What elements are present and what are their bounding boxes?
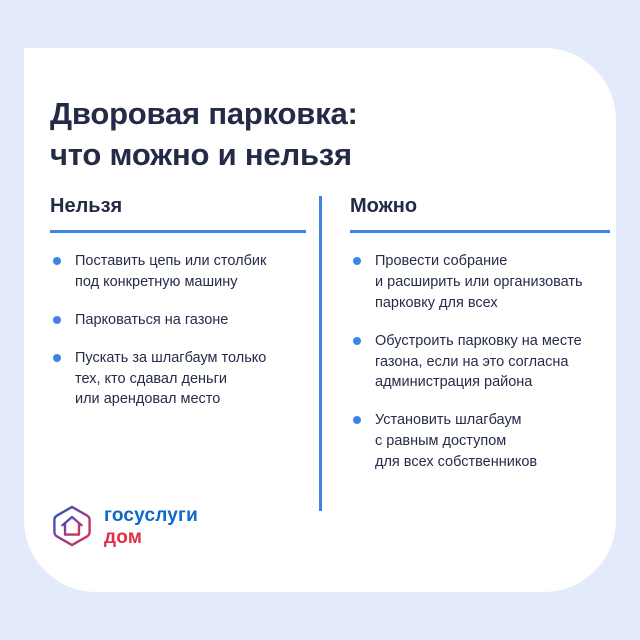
list-item: Поставить цепь или столбик под конкретну…: [50, 251, 306, 293]
list-item-line: парковку для всех: [375, 293, 610, 314]
bullet-dot-icon: [53, 354, 61, 362]
list-item-line: Обустроить парковку на месте: [375, 331, 610, 352]
content-card: Дворовая парковка: что можно и нельзя Не…: [24, 48, 616, 592]
list-item: Парковаться на газоне: [50, 310, 306, 331]
list-item-line: для всех собственников: [375, 452, 610, 473]
column-header-allowed: Можно: [350, 196, 610, 230]
list-item-line: тех, кто сдавал деньги: [75, 369, 306, 390]
gosuslugi-dom-house-hexagon-icon: [50, 504, 94, 548]
bullet-list-allowed: Провести собрание и расширить или органи…: [350, 233, 610, 473]
brand-word-gosuslugi: госуслуги: [104, 506, 198, 525]
list-item-line: Поставить цепь или столбик: [75, 251, 306, 272]
bullet-dot-icon: [53, 257, 61, 265]
bullet-dot-icon: [353, 416, 361, 424]
list-item-line: Пускать за шлагбаум только: [75, 348, 306, 369]
list-item-line: Провести собрание: [375, 251, 610, 272]
bullet-dot-icon: [353, 337, 361, 345]
list-item-line: администрация района: [375, 372, 610, 393]
column-header-prohibited: Нельзя: [50, 196, 306, 230]
list-item: Установить шлагбаум с равным доступом дл…: [350, 410, 610, 473]
brand-word-dom: дом: [104, 528, 198, 547]
list-item-line: и расширить или организовать: [375, 272, 610, 293]
page-title-line-1: Дворовая парковка:: [50, 93, 570, 134]
list-item-line: с равным доступом: [375, 431, 610, 452]
column-allowed: Можно Провести собрание и расширить или …: [328, 196, 610, 473]
infographic-canvas: Дворовая парковка: что можно и нельзя Не…: [0, 0, 640, 640]
list-item-line: или арендовал место: [75, 389, 306, 410]
page-title: Дворовая парковка: что можно и нельзя: [50, 93, 570, 175]
list-item-line: Установить шлагбаум: [375, 410, 610, 431]
column-prohibited: Нельзя Поставить цепь или столбик под ко…: [50, 196, 328, 410]
list-item: Провести собрание и расширить или органи…: [350, 251, 610, 314]
bullet-dot-icon: [353, 257, 361, 265]
list-item: Пускать за шлагбаум только тех, кто сдав…: [50, 348, 306, 411]
list-item: Обустроить парковку на месте газона, есл…: [350, 331, 610, 394]
bullet-list-prohibited: Поставить цепь или столбик под конкретну…: [50, 233, 306, 410]
brand-logo: госуслуги дом: [50, 504, 198, 548]
list-item-line: под конкретную машину: [75, 272, 306, 293]
list-item-line: Парковаться на газоне: [75, 310, 306, 331]
page-title-line-2: что можно и нельзя: [50, 134, 570, 175]
brand-wordmark: госуслуги дом: [104, 506, 198, 547]
comparison-columns: Нельзя Поставить цепь или столбик под ко…: [50, 196, 610, 473]
bullet-dot-icon: [53, 316, 61, 324]
list-item-line: газона, если на это согласна: [375, 352, 610, 373]
